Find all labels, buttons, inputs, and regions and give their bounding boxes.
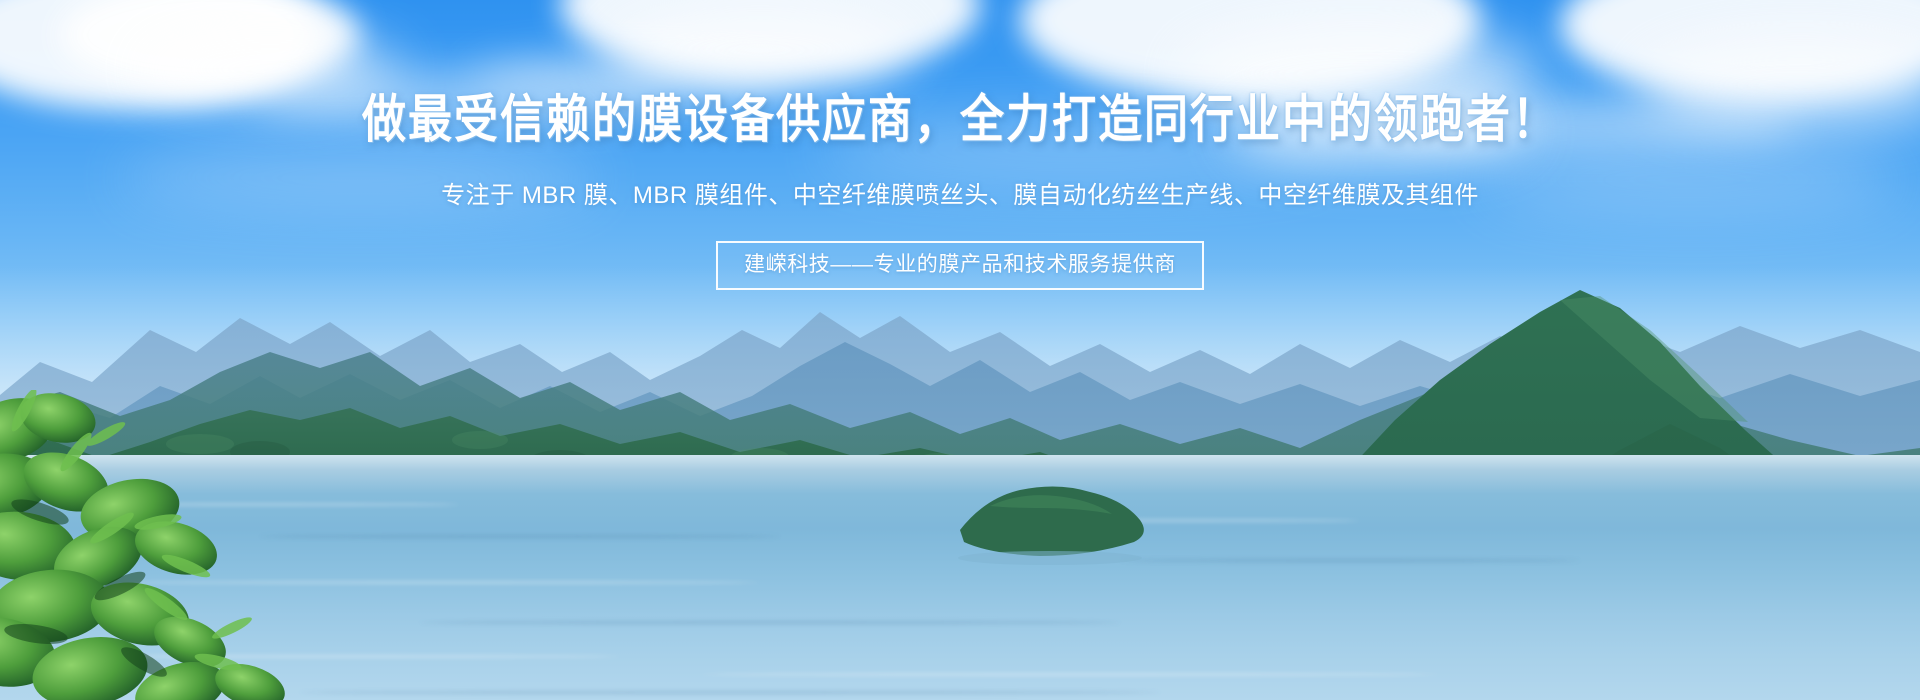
banner-subheadline: 专注于 MBR 膜、MBR 膜组件、中空纤维膜喷丝头、膜自动化纺丝生产线、中空纤… (0, 182, 1920, 211)
banner-tagline: 建嵘科技——专业的膜产品和技术服务提供商 (716, 241, 1204, 290)
hero-banner: 做最受信赖的膜设备供应商，全力打造同行业中的领跑者！ 专注于 MBR 膜、MBR… (0, 0, 1920, 700)
banner-copy: 做最受信赖的膜设备供应商，全力打造同行业中的领跑者！ 专注于 MBR 膜、MBR… (0, 92, 1920, 290)
banner-headline: 做最受信赖的膜设备供应商，全力打造同行业中的领跑者！ (0, 92, 1920, 149)
banner-tagline-wrap: 建嵘科技——专业的膜产品和技术服务提供商 (0, 241, 1920, 290)
